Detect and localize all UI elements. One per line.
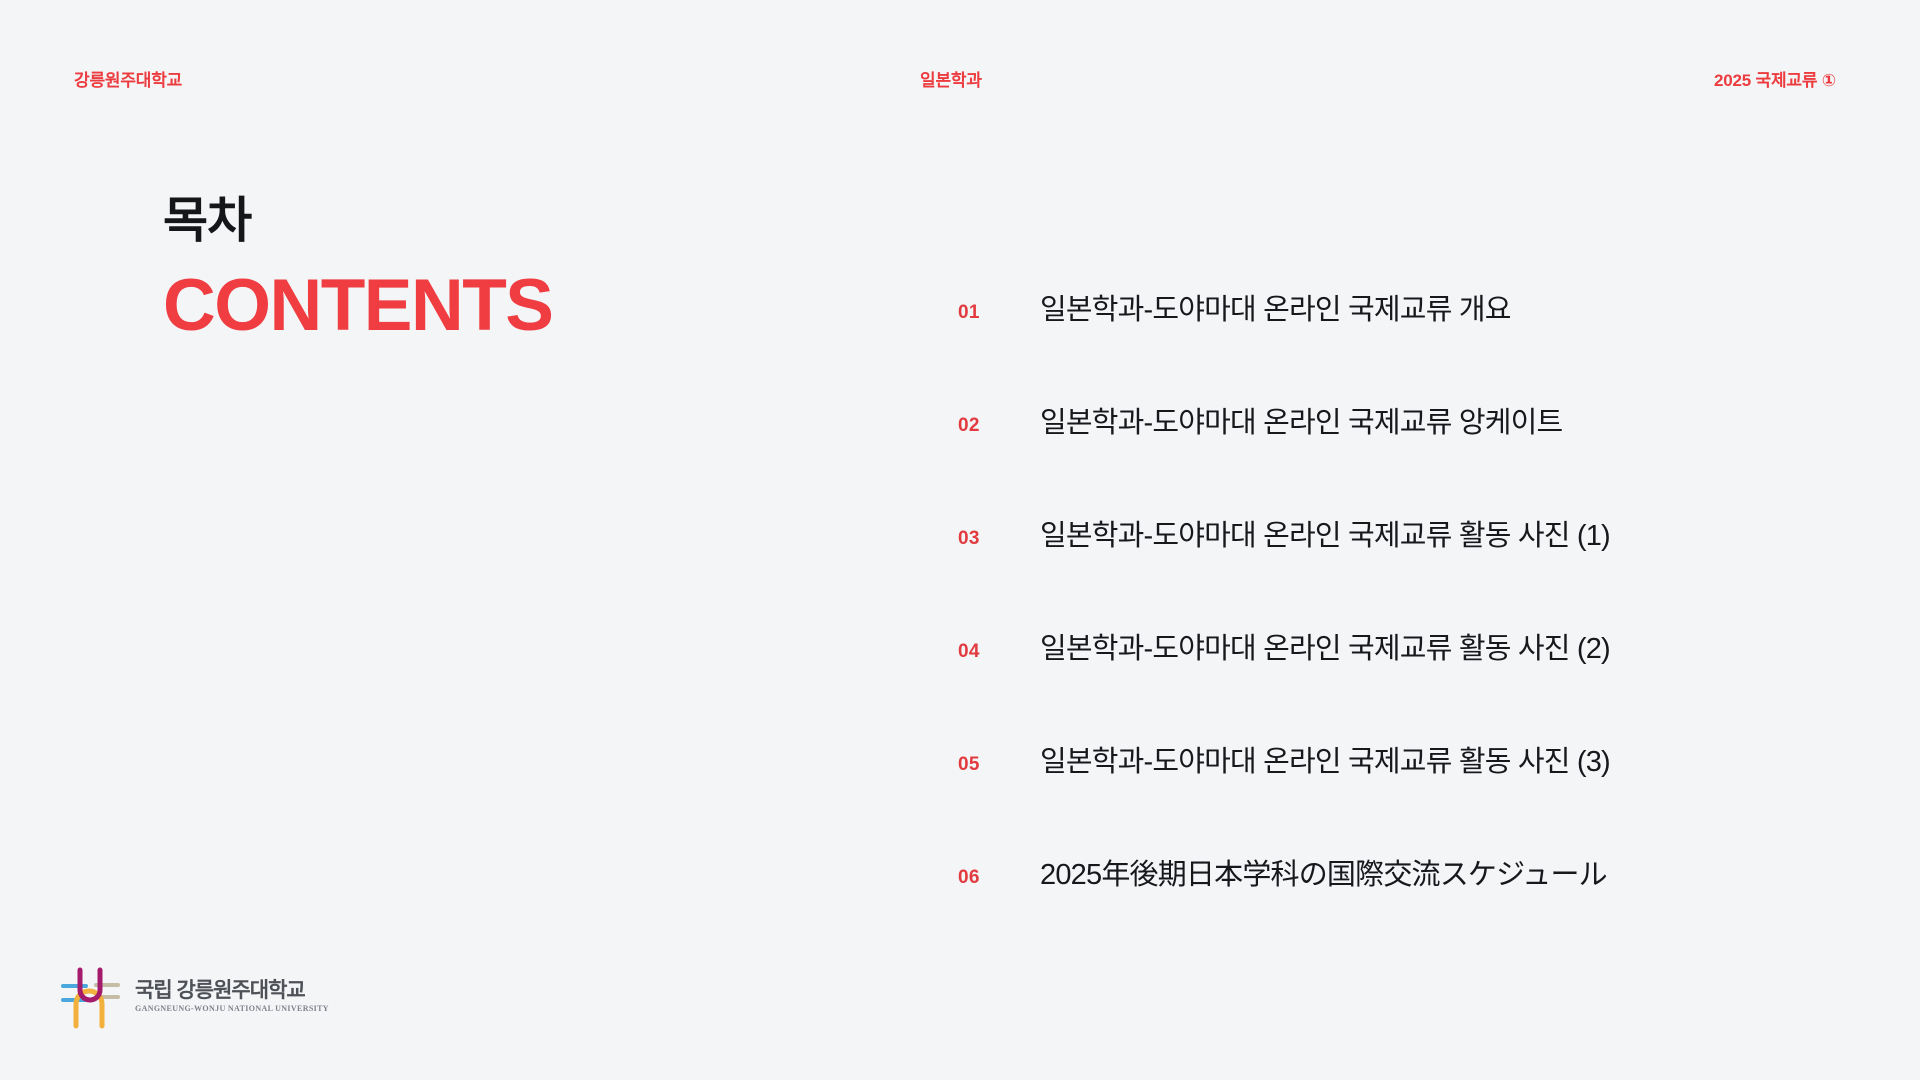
contents-item-title: 일본학과-도야마대 온라인 국제교류 개요 xyxy=(1040,290,1858,330)
page-title-korean: 목차 xyxy=(163,192,783,250)
page-title-english: CONTENTS xyxy=(163,264,783,348)
contents-item[interactable]: 04 일본학과-도야마대 온라인 국제교류 활동 사진 (2) xyxy=(958,629,1858,742)
contents-item-number: 03 xyxy=(958,516,1040,559)
university-emblem-icon xyxy=(60,964,122,1030)
contents-item-title: 일본학과-도야마대 온라인 국제교류 활동 사진 (3) xyxy=(1040,742,1858,782)
page-title: 목차 CONTENTS xyxy=(163,192,783,348)
header-university-name: 강릉원주대학교 xyxy=(74,70,182,92)
header-department-name: 일본학과 xyxy=(920,70,982,92)
contents-item-number: 04 xyxy=(958,629,1040,672)
university-logo-text: 국립 강릉원주대학교 GANGNEUNG-WONJU NATIONAL UNIV… xyxy=(135,979,329,1015)
university-logo-korean: 국립 강릉원주대학교 xyxy=(135,979,329,1003)
contents-item-title: 일본학과-도야마대 온라인 국제교류 앙케이트 xyxy=(1040,403,1858,443)
university-logo-english: GANGNEUNG-WONJU NATIONAL UNIVERSITY xyxy=(135,1003,329,1015)
contents-item[interactable]: 01 일본학과-도야마대 온라인 국제교류 개요 xyxy=(958,290,1858,403)
contents-item-number: 01 xyxy=(958,290,1040,333)
contents-item-title: 2025年後期日本学科の国際交流スケジュール xyxy=(1040,855,1858,895)
contents-item[interactable]: 03 일본학과-도야마대 온라인 국제교류 활동 사진 (1) xyxy=(958,516,1858,629)
contents-item-title: 일본학과-도야마대 온라인 국제교류 활동 사진 (1) xyxy=(1040,516,1858,556)
contents-item-number: 06 xyxy=(958,855,1040,898)
contents-item[interactable]: 02 일본학과-도야마대 온라인 국제교류 앙케이트 xyxy=(958,403,1858,516)
university-logo: 국립 강릉원주대학교 GANGNEUNG-WONJU NATIONAL UNIV… xyxy=(60,964,329,1030)
contents-item-number: 05 xyxy=(958,742,1040,785)
slide-header: 강릉원주대학교 일본학과 2025 국제교류 ① xyxy=(0,70,1920,96)
contents-item[interactable]: 06 2025年後期日本学科の国際交流スケジュール xyxy=(958,855,1858,968)
contents-item-title: 일본학과-도야마대 온라인 국제교류 활동 사진 (2) xyxy=(1040,629,1858,669)
contents-item-number: 02 xyxy=(958,403,1040,446)
slide-root: 강릉원주대학교 일본학과 2025 국제교류 ① 목차 CONTENTS 01 … xyxy=(0,0,1920,1080)
header-document-label: 2025 국제교류 ① xyxy=(1714,70,1836,92)
contents-item[interactable]: 05 일본학과-도야마대 온라인 국제교류 활동 사진 (3) xyxy=(958,742,1858,855)
contents-list: 01 일본학과-도야마대 온라인 국제교류 개요 02 일본학과-도야마대 온라… xyxy=(958,290,1858,968)
